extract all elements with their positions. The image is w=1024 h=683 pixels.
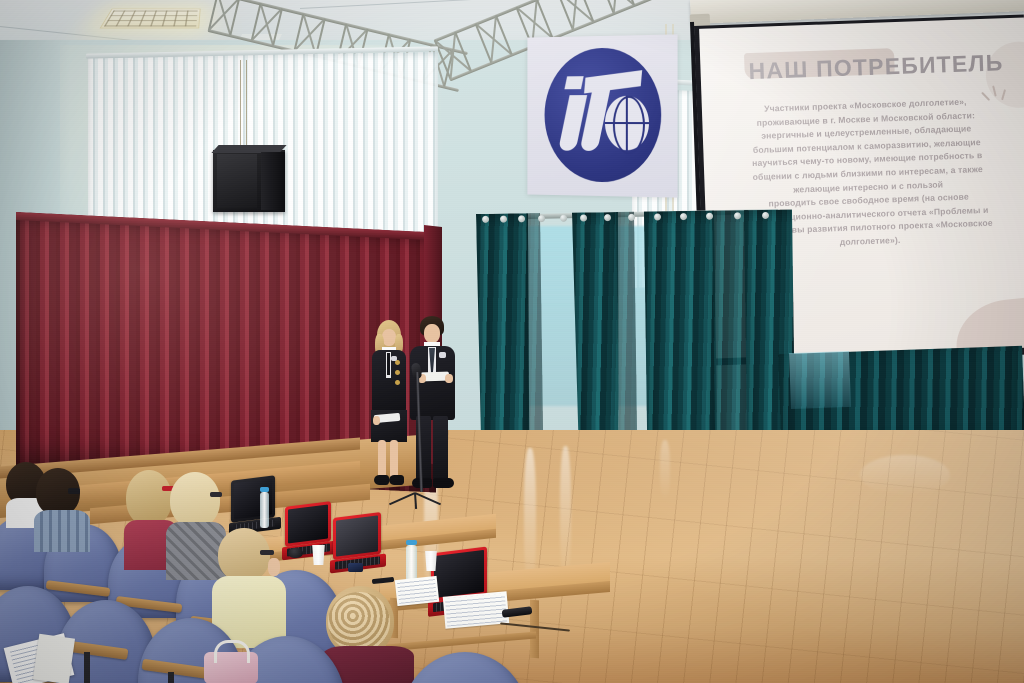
floor-reflection [560, 446, 571, 581]
face [424, 324, 440, 343]
necktie [387, 353, 390, 375]
water-bottle-1[interactable] [260, 492, 269, 528]
floor-reflection [660, 440, 670, 500]
shoe [389, 475, 404, 485]
audience-member-2 [32, 468, 94, 546]
logo-globe-arc [613, 96, 645, 155]
handbag-handle [214, 640, 250, 663]
presenter-male [408, 316, 458, 502]
window-light-right [789, 351, 851, 409]
logo-letter-i-dot [564, 76, 583, 89]
jacket-button [395, 370, 400, 375]
floor-reflection [860, 455, 950, 495]
small-device[interactable] [348, 563, 363, 572]
hand [445, 374, 453, 383]
slide-decor-sparkle [982, 84, 1009, 107]
presenter-female [368, 320, 410, 498]
trouser-leg [433, 416, 448, 482]
leg [378, 440, 386, 478]
hand [268, 558, 280, 576]
shoe [374, 475, 389, 485]
face [382, 329, 396, 346]
wall-logo-banner [527, 34, 677, 197]
seat-leg [84, 652, 90, 683]
clothing-plaid [34, 510, 90, 552]
logo-circle [545, 47, 662, 183]
eyeglasses [260, 550, 274, 555]
audience-member-5 [212, 528, 290, 638]
truss-upright [617, 0, 635, 5]
shoe [433, 478, 454, 488]
computer-mouse[interactable] [288, 548, 303, 558]
eyeglasses [210, 492, 222, 497]
leg [390, 440, 398, 478]
lapel-badge [391, 356, 397, 361]
floor-reflection [524, 448, 536, 588]
jacket-button [395, 380, 400, 385]
lapel-badge [439, 352, 446, 358]
conference-hall-photo: НАШ ПОТРЕБИТЕЛЬ Участники проекта «Моско… [0, 0, 1024, 683]
curly-hair [328, 592, 390, 652]
loudspeaker [213, 150, 285, 212]
hand [373, 416, 380, 425]
ceiling-light-panel [100, 9, 201, 29]
program-booklet-page[interactable] [33, 634, 75, 683]
seat-leg [168, 672, 174, 683]
teal-window-curtains[interactable] [476, 210, 795, 464]
eyeglasses [68, 488, 80, 494]
